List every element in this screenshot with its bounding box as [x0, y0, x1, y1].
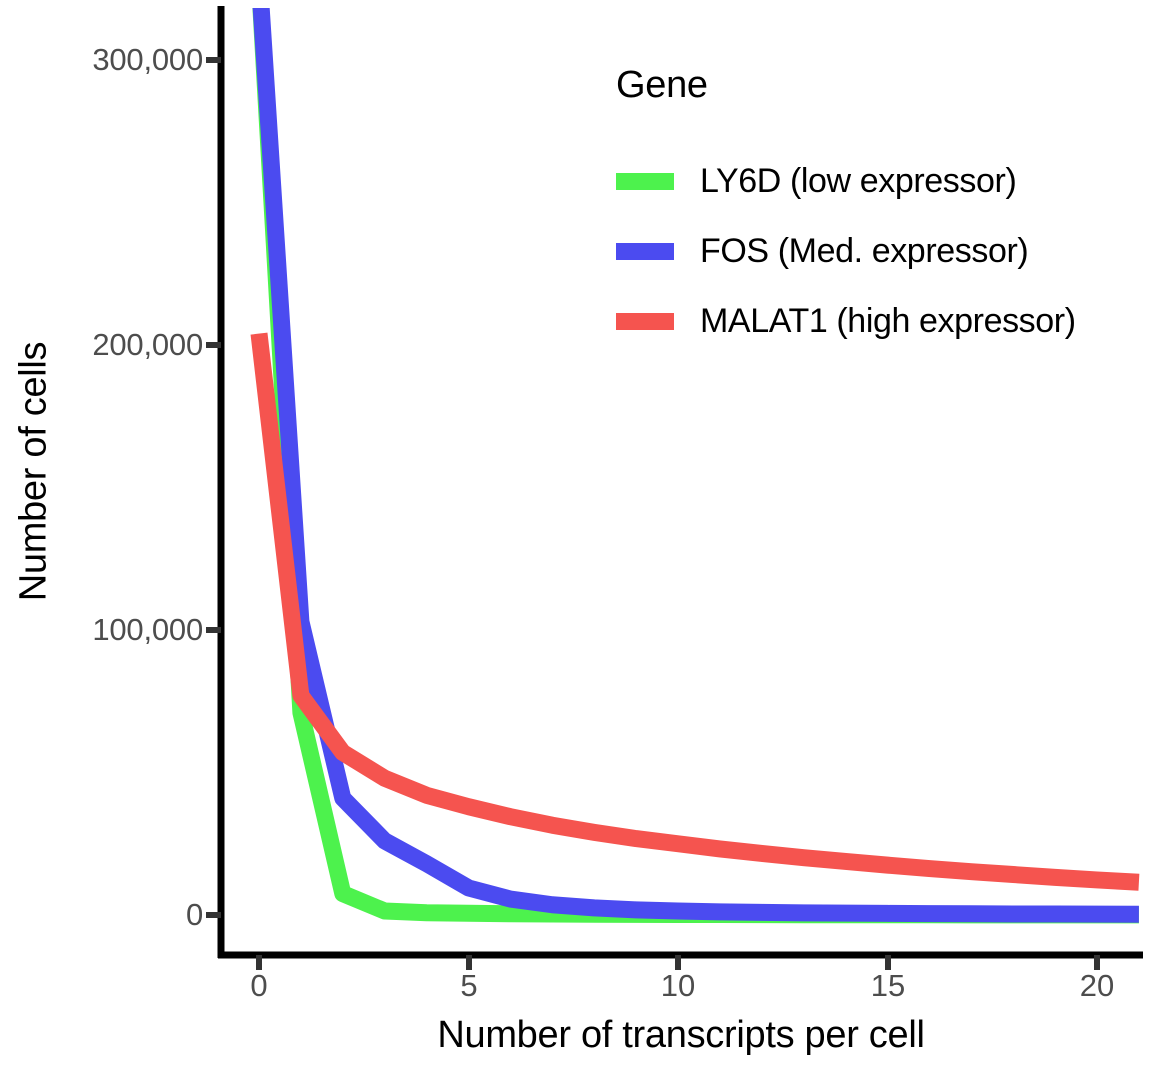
legend: Gene LY6D (low expressor) FOS (Med. expr…	[616, 66, 1126, 356]
legend-key-ly6d-icon	[616, 173, 674, 190]
legend-key-fos-icon	[616, 243, 674, 260]
legend-label-ly6d: LY6D (low expressor)	[700, 162, 1016, 201]
legend-title: Gene	[616, 66, 1126, 104]
legend-item-ly6d[interactable]: LY6D (low expressor)	[616, 146, 1126, 216]
legend-label-malat1: MALAT1 (high expressor)	[700, 302, 1076, 341]
legend-key-malat1-icon	[616, 313, 674, 330]
legend-item-malat1[interactable]: MALAT1 (high expressor)	[616, 286, 1126, 356]
legend-item-fos[interactable]: FOS (Med. expressor)	[616, 216, 1126, 286]
series-line	[259, 334, 1139, 883]
legend-label-fos: FOS (Med. expressor)	[700, 232, 1028, 271]
chart-figure: Number of cells 300,000 200,000 100,000 …	[0, 0, 1170, 1088]
